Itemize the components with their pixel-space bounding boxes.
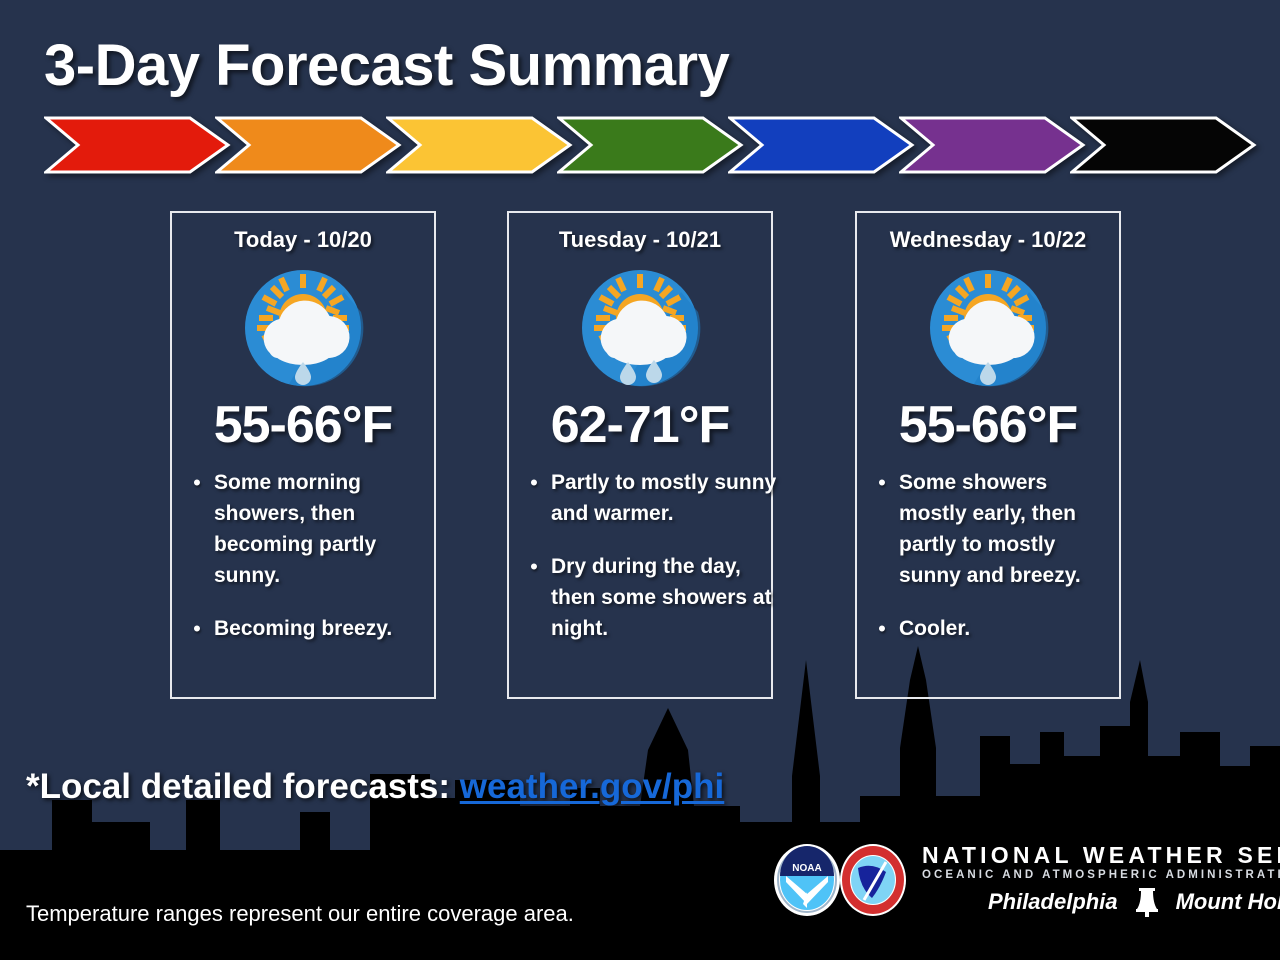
bullet-marker: • — [180, 467, 214, 591]
chevron-green — [557, 116, 745, 174]
list-item: • Dry during the day, then some showers … — [517, 551, 777, 644]
chevron-orange — [215, 116, 403, 174]
bullet-text: Partly to mostly sunny and warmer. — [551, 467, 777, 529]
noaa-seal-icon: NOAA — [772, 842, 842, 918]
agency-name: NATIONAL WEATHER SERVICE — [922, 843, 1280, 867]
list-item: • Cooler. — [865, 613, 1115, 645]
bullet-text: Becoming breezy. — [214, 613, 430, 645]
forecast-panel-tuesday: Tuesday - 10/21 62-71°F • Partly to most… — [507, 211, 773, 699]
hazard-color-strip — [44, 116, 1236, 174]
forecast-bullets: • Some showers mostly early, then partly… — [865, 467, 1115, 667]
weather-gov-link[interactable]: weather.gov/phi — [460, 767, 725, 806]
temperature-range: 55-66°F — [857, 395, 1119, 455]
bullet-marker: • — [865, 467, 899, 591]
forecast-bullets: • Some morning showers, then becoming pa… — [180, 467, 430, 667]
temperature-range: 55-66°F — [172, 395, 434, 455]
bullet-marker: • — [517, 551, 551, 644]
chevron-yellow — [386, 116, 574, 174]
liberty-bell-icon — [1134, 887, 1160, 917]
nws-wordmark: NATIONAL WEATHER SERVICE OCEANIC AND ATM… — [922, 843, 1280, 916]
svg-text:NOAA: NOAA — [792, 863, 821, 874]
temperature-range: 62-71°F — [509, 395, 771, 455]
page-title: 3-Day Forecast Summary — [44, 32, 729, 99]
day-label: Today - 10/20 — [172, 227, 434, 253]
list-item: • Some showers mostly early, then partly… — [865, 467, 1115, 591]
bullet-marker: • — [865, 613, 899, 645]
bullet-marker: • — [180, 613, 214, 645]
bullet-text: Dry during the day, then some showers at… — [551, 551, 777, 644]
forecast-panel-today: Today - 10/20 55-66°F • Some morning sho… — [170, 211, 436, 699]
chevron-black — [1070, 116, 1258, 174]
chevron-purple — [899, 116, 1087, 174]
chevron-red — [44, 116, 232, 174]
coverage-note: Temperature ranges represent our entire … — [26, 901, 574, 927]
sun-behind-rain-cloud-icon — [926, 266, 1050, 390]
sun-behind-rain-cloud-icon — [241, 266, 365, 390]
chevron-blue — [728, 116, 916, 174]
day-label: Tuesday - 10/21 — [509, 227, 771, 253]
list-item: • Some morning showers, then becoming pa… — [180, 467, 430, 591]
bullet-marker: • — [517, 467, 551, 529]
local-forecast-note: *Local detailed forecasts: weather.gov/p… — [26, 767, 724, 807]
bullet-text: Cooler. — [899, 613, 1115, 645]
office-philadelphia: Philadelphia — [988, 889, 1118, 915]
local-forecast-label: *Local detailed forecasts: — [26, 767, 460, 806]
sun-behind-rain-cloud-icon — [578, 266, 702, 390]
bullet-text: Some showers mostly early, then partly t… — [899, 467, 1115, 591]
list-item: • Partly to mostly sunny and warmer. — [517, 467, 777, 529]
list-item: • Becoming breezy. — [180, 613, 430, 645]
bullet-text: Some morning showers, then becoming part… — [214, 467, 430, 591]
office-mount-holly: Mount Holly — [1176, 889, 1280, 915]
forecast-panel-wednesday: Wednesday - 10/22 55-66°F • Some showers… — [855, 211, 1121, 699]
nws-seal-icon — [838, 842, 908, 918]
forecast-bullets: • Partly to mostly sunny and warmer. • D… — [517, 467, 777, 666]
nws-logo-lockup: NOAA NATIONAL WEATHER SERVICE OCEANIC AN… — [772, 842, 1280, 918]
day-label: Wednesday - 10/22 — [857, 227, 1119, 253]
office-names: Philadelphia Mount Holly — [922, 887, 1280, 917]
agency-subtitle: OCEANIC AND ATMOSPHERIC ADMINISTRATION — [922, 868, 1280, 883]
forecast-graphic: 3-Day Forecast Summary — [0, 0, 1280, 960]
